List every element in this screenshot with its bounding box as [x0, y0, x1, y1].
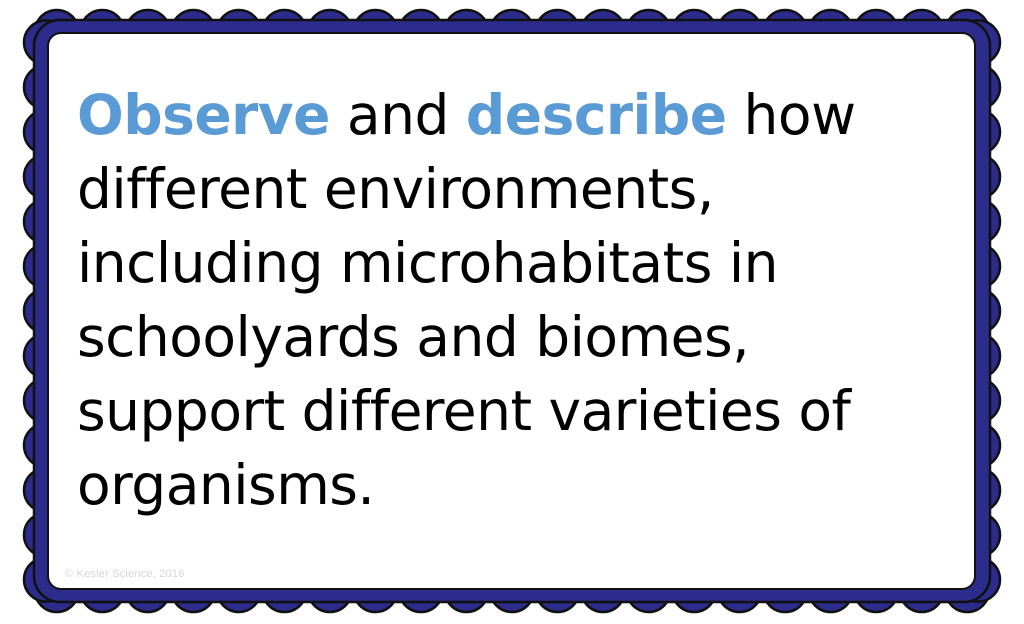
- statement-segment: different environments,: [77, 157, 714, 221]
- statement-keyword: describe: [466, 83, 727, 147]
- statement-segment: and: [330, 83, 466, 147]
- slide-canvas: Observe and describe howdifferent enviro…: [0, 0, 1024, 624]
- statement-segment: how: [727, 83, 856, 147]
- statement-segment: organisms.: [77, 453, 374, 517]
- statement-line: schoolyards and biomes,: [77, 300, 937, 374]
- statement-line: support different varieties of: [77, 374, 937, 448]
- statement-line: including microhabitats in: [77, 226, 937, 300]
- statement-line: different environments,: [77, 152, 937, 226]
- statement-segment: support different varieties of: [77, 379, 850, 443]
- statement-keyword: Observe: [77, 83, 330, 147]
- content-card: Observe and describe howdifferent enviro…: [47, 32, 976, 590]
- statement-segment: schoolyards and biomes,: [77, 305, 749, 369]
- statement-line: Observe and describe how: [77, 78, 937, 152]
- statement-text: Observe and describe howdifferent enviro…: [77, 78, 937, 522]
- copyright-notice: © Kesler Science, 2016: [65, 568, 185, 580]
- statement-segment: including microhabitats in: [77, 231, 778, 295]
- statement-line: organisms.: [77, 448, 937, 522]
